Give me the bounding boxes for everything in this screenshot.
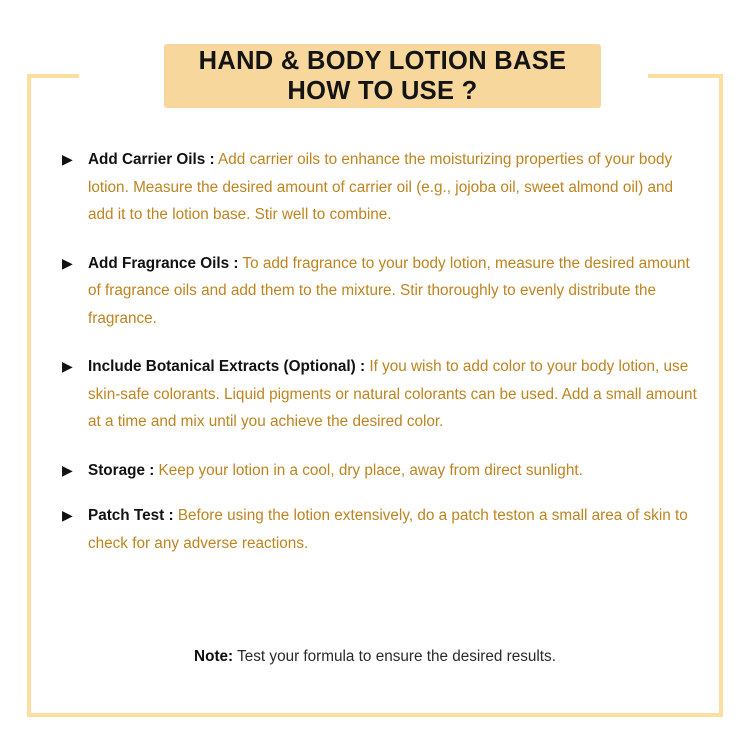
list-item: ▶Include Botanical Extracts (Optional) :… <box>62 353 700 436</box>
note-label: Note: <box>194 648 233 665</box>
frame-border-right <box>719 74 723 717</box>
list-item-label: Storage : <box>88 462 154 479</box>
list-item: ▶Patch Test : Before using the lotion ex… <box>62 502 700 557</box>
frame-border-top-left <box>27 74 79 78</box>
list-item-text: Before using the lotion extensively, do … <box>88 507 688 552</box>
list-item-label: Add Carrier Oils : <box>88 151 215 168</box>
note-text: Test your formula to ensure the desired … <box>233 648 556 665</box>
list-item-text: Keep your lotion in a cool, dry place, a… <box>154 462 583 479</box>
triangle-right-icon: ▶ <box>62 353 73 381</box>
frame-border-bottom <box>27 713 723 717</box>
triangle-right-icon: ▶ <box>62 250 73 278</box>
title-banner: HAND & BODY LOTION BASE HOW TO USE ? <box>164 44 601 108</box>
frame-border-left <box>27 74 31 717</box>
list-item-label: Include Botanical Extracts (Optional) : <box>88 358 365 375</box>
instruction-list: ▶Add Carrier Oils : Add carrier oils to … <box>62 146 700 575</box>
triangle-right-icon: ▶ <box>62 457 73 485</box>
instruction-poster: HAND & BODY LOTION BASE HOW TO USE ? ▶Ad… <box>0 0 750 750</box>
note-section: Note: Test your formula to ensure the de… <box>0 645 750 669</box>
triangle-right-icon: ▶ <box>62 146 73 174</box>
page-title-line-1: HAND & BODY LOTION BASE <box>199 46 567 76</box>
list-item: ▶Add Carrier Oils : Add carrier oils to … <box>62 146 700 229</box>
list-item: ▶Add Fragrance Oils : To add fragrance t… <box>62 250 700 333</box>
list-item: ▶Storage : Keep your lotion in a cool, d… <box>62 457 700 485</box>
page-title-line-2: HOW TO USE ? <box>287 76 477 106</box>
list-item-label: Add Fragrance Oils : <box>88 255 238 272</box>
frame-border-top-right <box>648 74 723 78</box>
triangle-right-icon: ▶ <box>62 502 73 530</box>
list-item-label: Patch Test : <box>88 507 174 524</box>
